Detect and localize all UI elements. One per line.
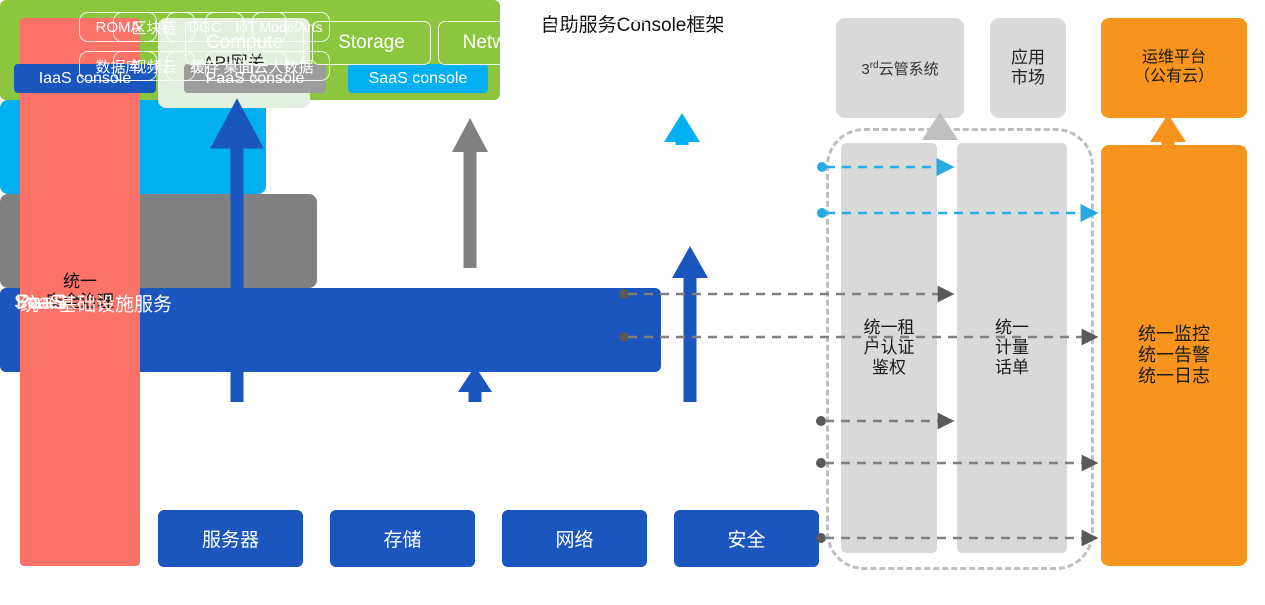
unified-tenant-auth-label: 统一租 户认证 鉴权 — [864, 318, 915, 378]
unified-metering-label: 统一 计量 话单 — [995, 318, 1029, 378]
infra-item-cce[interactable]: CCE — [564, 21, 648, 65]
infrastructure-label: 统一基础设施服务 — [20, 289, 172, 316]
arrow-paas-to-console — [452, 118, 488, 268]
paas-item-roma[interactable]: ROMA — [79, 12, 157, 42]
arrow-saas-to-console — [664, 113, 700, 145]
third-party-cloud-mgmt-label: 3rd云管系统 — [861, 58, 938, 79]
ops-platform-box: 运维平台 （公有云） — [1101, 18, 1247, 118]
arrow-infra-to-saas — [672, 246, 708, 402]
paas-item-database[interactable]: 数据库 — [79, 51, 157, 81]
app-market-box: 应用 市场 — [990, 18, 1066, 118]
third-party-cloud-mgmt-box: 3rd云管系统 — [836, 18, 964, 118]
infra-item-compute[interactable]: Compute — [185, 21, 304, 65]
hardware-item-network[interactable]: 网络 — [502, 510, 647, 567]
ops-monitoring-panel: 统一监控 统一告警 统一日志 — [1101, 145, 1247, 566]
arrow-to-ops-platform — [1150, 114, 1186, 145]
hardware-item-server[interactable]: 服务器 — [158, 510, 303, 567]
unified-metering-column: 统一 计量 话单 — [957, 143, 1067, 553]
saas-console-button[interactable]: SaaS console — [348, 64, 488, 93]
hardware-item-security[interactable]: 安全 — [674, 510, 819, 567]
ops-monitoring-label: 统一监控 统一告警 统一日志 — [1138, 324, 1210, 388]
hardware-item-storage[interactable]: 存储 — [330, 510, 475, 567]
architecture-diagram: 统一 安全治理 API网关 自助服务Console框架 IaaS console… — [0, 0, 1265, 605]
app-market-label: 应用 市场 — [1011, 48, 1045, 88]
unified-tenant-auth-column: 统一租 户认证 鉴权 — [841, 143, 937, 553]
infra-item-storage[interactable]: Storage — [312, 21, 431, 65]
ops-platform-label: 运维平台 （公有云） — [1134, 49, 1214, 87]
infra-item-network[interactable]: Network — [438, 21, 557, 65]
